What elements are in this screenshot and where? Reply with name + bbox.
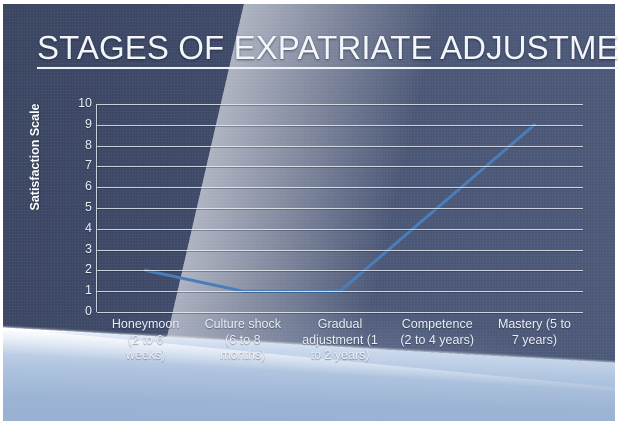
gridline (97, 229, 583, 230)
x-axis-tick-label: Competence(2 to 4 years) (389, 317, 486, 364)
y-axis-tick-label: 2 (62, 262, 92, 276)
plot-area (97, 104, 583, 312)
gridline (97, 187, 583, 188)
gridline (97, 146, 583, 147)
x-axis-tick-label-line: weeks) (98, 348, 193, 364)
gridline (97, 104, 583, 105)
x-axis-tick-label: Culture shock(6 to 8months) (194, 317, 291, 364)
y-axis-tick-labels: 109876543210 (58, 0, 92, 424)
x-axis-tick-label-line: to 2 years) (292, 348, 387, 364)
x-axis-tick-label-line: Culture shock (195, 317, 290, 333)
y-axis-tick-label: 8 (62, 138, 92, 152)
gridline (97, 270, 583, 271)
x-axis-tick-label-line: Competence (390, 317, 485, 333)
x-axis-tick-label: Mastery (5 to7 years) (486, 317, 583, 364)
x-axis-tick-labels: Honeymoon(2 to 6weeks)Culture shock(6 to… (97, 317, 583, 364)
y-axis-tick-label: 4 (62, 221, 92, 235)
y-axis-tick-label: 5 (62, 200, 92, 214)
gridline (97, 312, 583, 313)
gridline (97, 166, 583, 167)
y-axis-tick-label: 1 (62, 283, 92, 297)
x-axis-tick-label-line: Gradual (292, 317, 387, 333)
x-axis-tick-label-line: (2 to 6 (98, 333, 193, 349)
x-axis-tick-label-line: months) (195, 348, 290, 364)
y-axis-title: Satisfaction Scale (28, 92, 42, 222)
y-axis-tick-label: 6 (62, 179, 92, 193)
x-axis-tick-label: Honeymoon(2 to 6weeks) (97, 317, 194, 364)
gridline (97, 250, 583, 251)
y-axis-tick-label: 0 (62, 304, 92, 318)
y-axis-tick-label: 3 (62, 242, 92, 256)
x-axis-tick-label-line: (6 to 8 (195, 333, 290, 349)
x-axis-tick-label-line: Mastery (5 to (487, 317, 582, 333)
gridline (97, 291, 583, 292)
y-axis-tick-label: 10 (62, 96, 92, 110)
line-chart: Satisfaction Scale 109876543210 Honeymoo… (0, 0, 618, 424)
y-axis-tick-label: 7 (62, 158, 92, 172)
y-axis-tick-label: 9 (62, 117, 92, 131)
x-axis-tick-label: Gradualadjustment (1to 2 years) (291, 317, 388, 364)
presentation-slide: STAGES OF EXPATRIATE ADJUSTMENT Satisfac… (0, 0, 618, 424)
x-axis-tick-label-line: 7 years) (487, 333, 582, 349)
gridline (97, 125, 583, 126)
x-axis-tick-label-line: (2 to 4 years) (390, 333, 485, 349)
x-axis-tick-label-line: adjustment (1 (292, 333, 387, 349)
x-axis-tick-label-line: Honeymoon (98, 317, 193, 333)
gridline (97, 208, 583, 209)
